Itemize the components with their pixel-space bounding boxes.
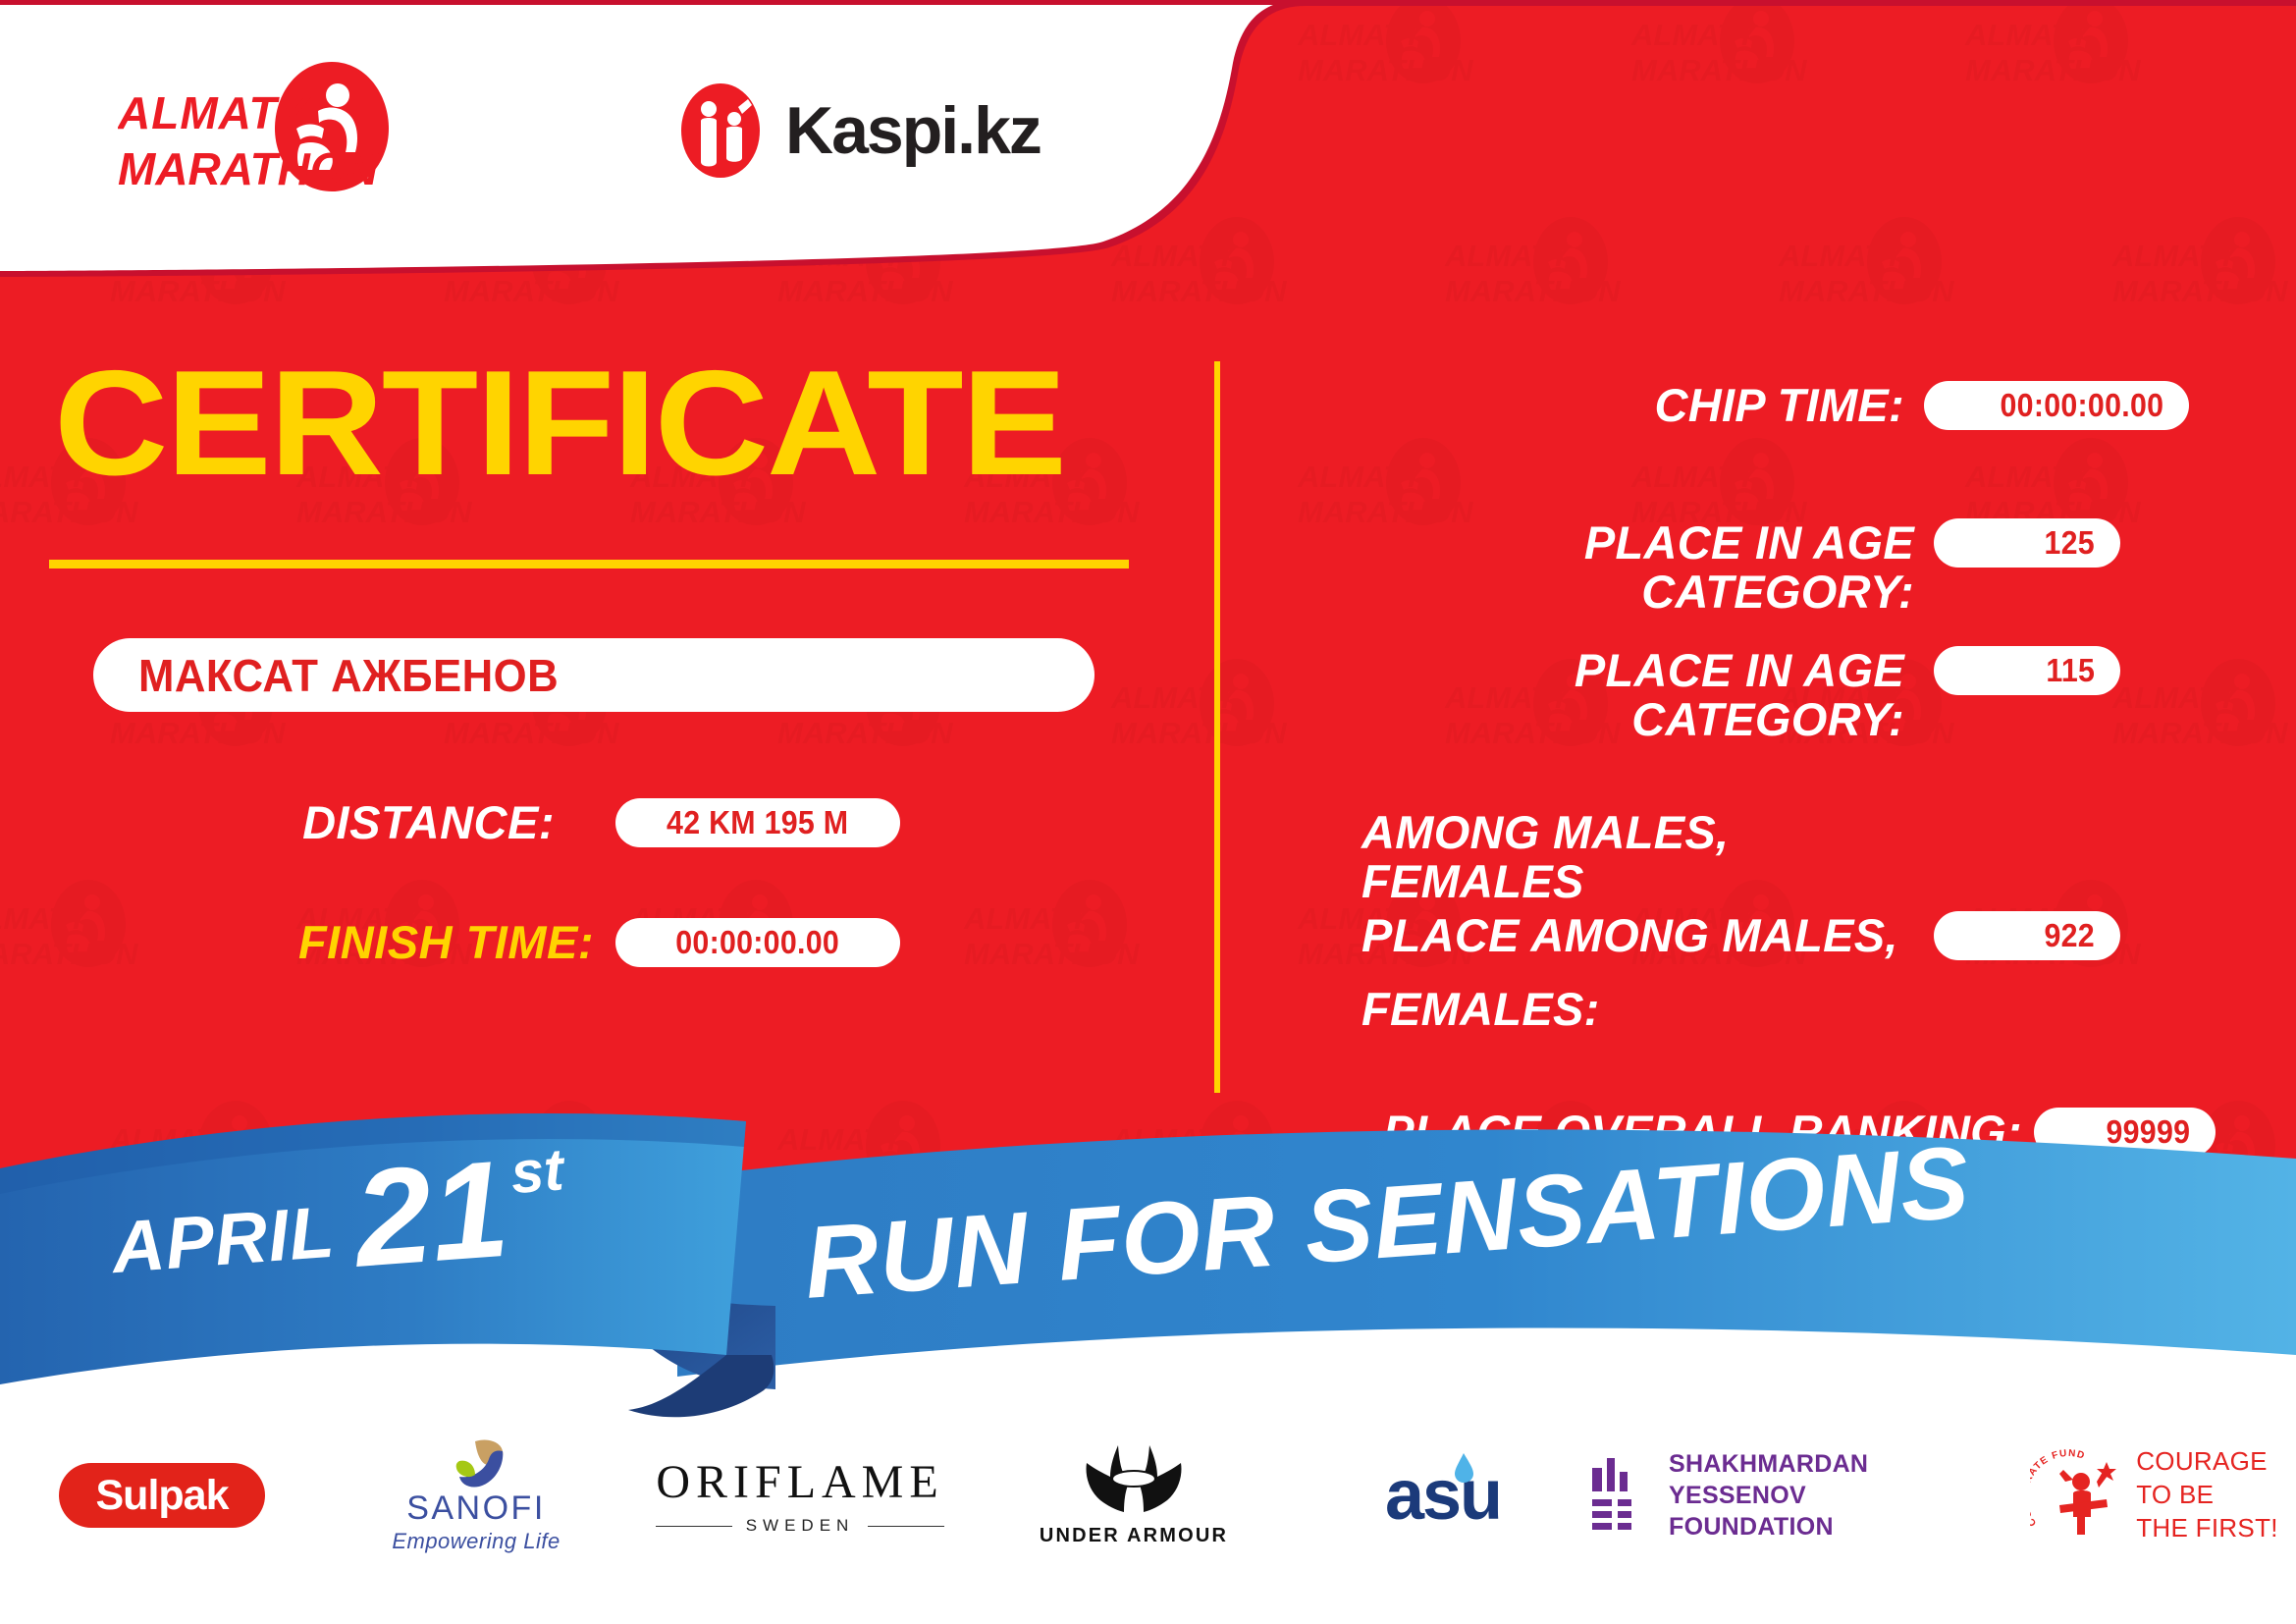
place-age-category-among-value-pill: 115 [1934, 646, 2120, 695]
place-age-category-value-pill: 125 [1934, 518, 2120, 568]
event-day: 21 [350, 1148, 511, 1279]
oriflame-rule-left [656, 1526, 731, 1527]
finish-time-value-pill: 00:00:00.00 [615, 918, 900, 967]
under-armour-logo-text: UNDER ARMOUR [1040, 1525, 1228, 1547]
yessenov-mark-icon [1590, 1456, 1647, 1535]
oriflame-rule-right [868, 1526, 943, 1527]
watermark-tile: ALMATYMARATHON [1109, 653, 1306, 800]
yessenov-logo: SHAKHMARDAN YESSENOV FOUNDATION [1590, 1448, 2012, 1543]
sanofi-mark-icon [446, 1437, 507, 1489]
yessenov-line2: FOUNDATION [1669, 1511, 2012, 1543]
chip-time-value-pill: 00:00:00.00 [1924, 381, 2189, 430]
oriflame-logo-text: ORIFLAME [656, 1455, 943, 1509]
oriflame-logo: ORIFLAME SWEDEN [656, 1455, 943, 1536]
svg-text:MARATHON: MARATHON [777, 716, 953, 750]
kaspi-logo-text: Kaspi.kz [785, 92, 1041, 169]
oriflame-tagline: SWEDEN [746, 1516, 855, 1536]
svg-text:MARATHON: MARATHON [2112, 716, 2288, 750]
column-divider [1214, 361, 1220, 1093]
svg-text:MARATHON: MARATHON [1111, 716, 1287, 750]
svg-text:ALMATY: ALMATY [2111, 680, 2240, 715]
yessenov-logo-text: SHAKHMARDAN YESSENOV FOUNDATION [1669, 1448, 2012, 1543]
header-top-rule [0, 0, 2296, 5]
place-age-category-among-label: PLACE IN AGE CATEGORY: [1315, 646, 1904, 745]
svg-text:ALMATY: ALMATY [1297, 460, 1425, 494]
svg-text:MARATHON: MARATHON [0, 937, 138, 971]
courage-line1: COURAGE [2136, 1445, 2278, 1479]
yessenov-line1: SHAKHMARDAN YESSENOV [1669, 1448, 2012, 1511]
place-age-category-label: PLACE IN AGE CATEGORY: [1315, 518, 1914, 618]
event-month: APRIL [109, 1190, 338, 1289]
sponsor-under-armour: UNDER ARMOUR [972, 1422, 1296, 1569]
sulpak-logo-text: Sulpak [96, 1472, 229, 1520]
svg-text:ALMATY: ALMATY [1964, 460, 2093, 494]
place-among-males-females-label: PLACE AMONG MALES, [1315, 911, 1904, 960]
page-title: CERTIFICATE [54, 349, 1065, 498]
almaty-logo-line1: ALMATY [118, 87, 312, 138]
certificate-page: ALMATYMARATHONALMATYMARATHONALMATYMARATH… [0, 0, 2296, 1624]
place-among-males-females-row: PLACE AMONG MALES, 922 [1315, 911, 2120, 960]
runner-name-field: МАКСАТ АЖБЕНОВ [93, 638, 1095, 712]
sponsor-sulpak: Sulpak [0, 1422, 324, 1569]
sponsor-sanofi: SANOFI Empowering Life [324, 1422, 628, 1569]
courage-logo-text: COURAGE TO BE THE FIRST! [2136, 1445, 2278, 1544]
sponsor-asu: asu [1296, 1422, 1590, 1569]
courage-logo: CORPORATE FUND COURAGE TO BE THE FIRST! [2030, 1445, 2278, 1544]
courage-mark-icon: CORPORATE FUND [2030, 1448, 2124, 1543]
distance-value: 42 KM 195 M [667, 804, 848, 841]
courage-line3: THE FIRST! [2136, 1512, 2278, 1545]
place-among-males-females-sublabel: FEMALES: [1315, 985, 1904, 1034]
place-age-category-row: PLACE IN AGE CATEGORY: 125 [1315, 518, 2120, 618]
almaty-marathon-logo: ALMATY MARATHON [118, 54, 442, 211]
distance-row: DISTANCE: 42 KM 195 M [270, 795, 900, 849]
asu-logo-text: asu [1385, 1455, 1501, 1536]
sponsor-bar: Sulpak SANOFI Empowering Life ORIFLAME S… [0, 1412, 2296, 1579]
place-age-category-among-sublabel: AMONG MALES, FEMALES [1315, 808, 1904, 907]
asu-drop-icon [1454, 1453, 1473, 1483]
sponsor-courage-fund: CORPORATE FUND COURAGE TO BE THE FIRST! [2012, 1422, 2296, 1569]
watermark-tile: ALMATYMARATHON [2110, 653, 2296, 800]
chip-time-value: 00:00:00.00 [2000, 387, 2163, 424]
chip-time-row: CHIP TIME: 00:00:00.00 [1315, 381, 2189, 430]
place-age-category-among-row: PLACE IN AGE CATEGORY: 115 [1315, 646, 2120, 745]
svg-text:MARATHON: MARATHON [444, 716, 619, 750]
distance-value-pill: 42 KM 195 M [615, 798, 900, 847]
sanofi-tagline: Empowering Life [392, 1529, 560, 1554]
svg-text:ALMATY: ALMATY [963, 901, 1092, 936]
sponsor-yessenov-foundation: SHAKHMARDAN YESSENOV FOUNDATION [1590, 1422, 2012, 1569]
place-among-males-females-value-pill: 922 [1934, 911, 2120, 960]
runner-name-value: МАКСАТ АЖБЕНОВ [138, 649, 559, 702]
place-among-males-females-sub-row: FEMALES: [1315, 985, 1904, 1034]
watermark-tile: ALMATYMARATHON [0, 874, 157, 1021]
finish-time-value: 00:00:00.00 [676, 924, 840, 961]
place-age-category-among-sub-row: AMONG MALES, FEMALES [1315, 808, 1904, 907]
svg-text:MARATHON: MARATHON [110, 716, 286, 750]
svg-text:ALMATY: ALMATY [1630, 460, 1759, 494]
svg-text:MARATHON: MARATHON [964, 937, 1140, 971]
event-day-suffix: st [508, 1135, 565, 1207]
watermark-tile: ALMATYMARATHON [962, 874, 1158, 1021]
finish-time-label: FINISH TIME: [270, 915, 594, 969]
distance-label: DISTANCE: [270, 795, 555, 849]
chip-time-label: CHIP TIME: [1315, 381, 1904, 430]
sponsor-oriflame: ORIFLAME SWEDEN [628, 1422, 972, 1569]
under-armour-mark-icon [1081, 1443, 1187, 1518]
almaty-logo-line2: MARATHON [118, 143, 379, 194]
finish-time-row: FINISH TIME: 00:00:00.00 [270, 915, 900, 969]
asu-logo: asu [1385, 1455, 1501, 1536]
oriflame-sub: SWEDEN [656, 1516, 943, 1536]
place-among-males-females-value: 922 [2045, 917, 2095, 954]
kaspi-logo: Kaspi.kz [677, 77, 1090, 185]
place-age-category-among-value: 115 [2046, 652, 2095, 689]
sulpak-logo: Sulpak [59, 1463, 265, 1528]
svg-text:ALMATY: ALMATY [0, 901, 90, 936]
kaspi-mark-icon [677, 81, 764, 180]
place-age-category-value: 125 [2045, 524, 2095, 562]
title-underline [49, 560, 1129, 568]
courage-line2: TO BE [2136, 1479, 2278, 1512]
under-armour-logo: UNDER ARMOUR [1040, 1443, 1228, 1547]
sanofi-logo: SANOFI Empowering Life [392, 1437, 560, 1554]
sanofi-logo-text: SANOFI [406, 1489, 546, 1528]
